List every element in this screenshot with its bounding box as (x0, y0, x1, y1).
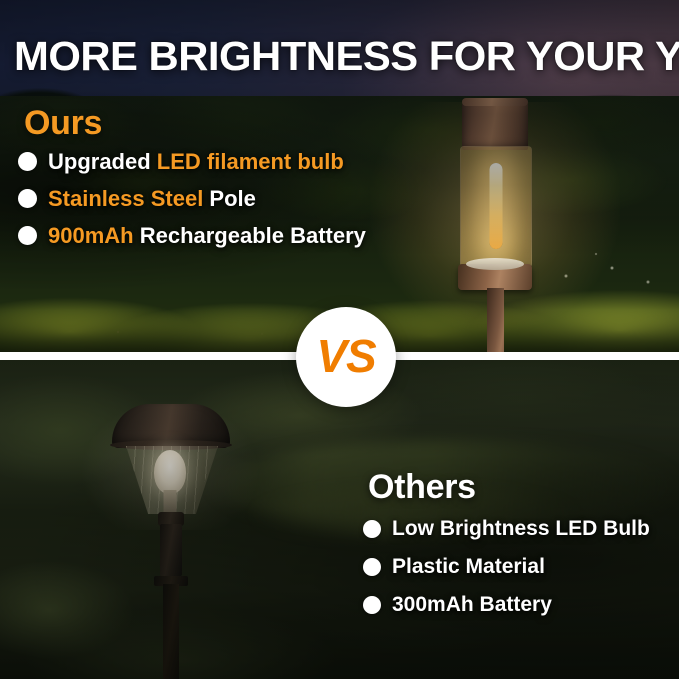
ours-feature-list: Upgraded LED filament bulb Stainless Ste… (18, 150, 366, 261)
others-heading: Others (368, 470, 476, 504)
others-feature-3: 300mAh Battery (392, 594, 552, 616)
vs-label: VS (316, 329, 375, 383)
bullet-icon (18, 189, 37, 208)
list-item: 900mAh Rechargeable Battery (18, 224, 366, 247)
bullet-icon (363, 520, 381, 538)
bullet-icon (363, 558, 381, 576)
ours-feature-1: Upgraded LED filament bulb (48, 150, 344, 173)
bullet-icon (18, 226, 37, 245)
bullet-icon (18, 152, 37, 171)
others-feature-2: Plastic Material (392, 556, 545, 578)
bullet-icon (363, 596, 381, 614)
ours-heading: Ours (24, 106, 102, 140)
vs-badge: VS (296, 307, 396, 407)
list-item: 300mAh Battery (363, 594, 650, 616)
list-item: Upgraded LED filament bulb (18, 150, 366, 173)
list-item: Low Brightness LED Bulb (363, 518, 650, 540)
others-feature-list: Low Brightness LED Bulb Plastic Material… (363, 518, 650, 632)
others-feature-1: Low Brightness LED Bulb (392, 518, 650, 540)
list-item: Stainless Steel Pole (18, 187, 366, 210)
comparison-poster: MORE BRIGHTNESS FOR YOUR YARD Ours Upgra… (0, 0, 679, 679)
page-title: MORE BRIGHTNESS FOR YOUR YARD (14, 36, 679, 77)
ours-feature-2: Stainless Steel Pole (48, 187, 256, 210)
ours-feature-3: 900mAh Rechargeable Battery (48, 224, 366, 247)
list-item: Plastic Material (363, 556, 650, 578)
